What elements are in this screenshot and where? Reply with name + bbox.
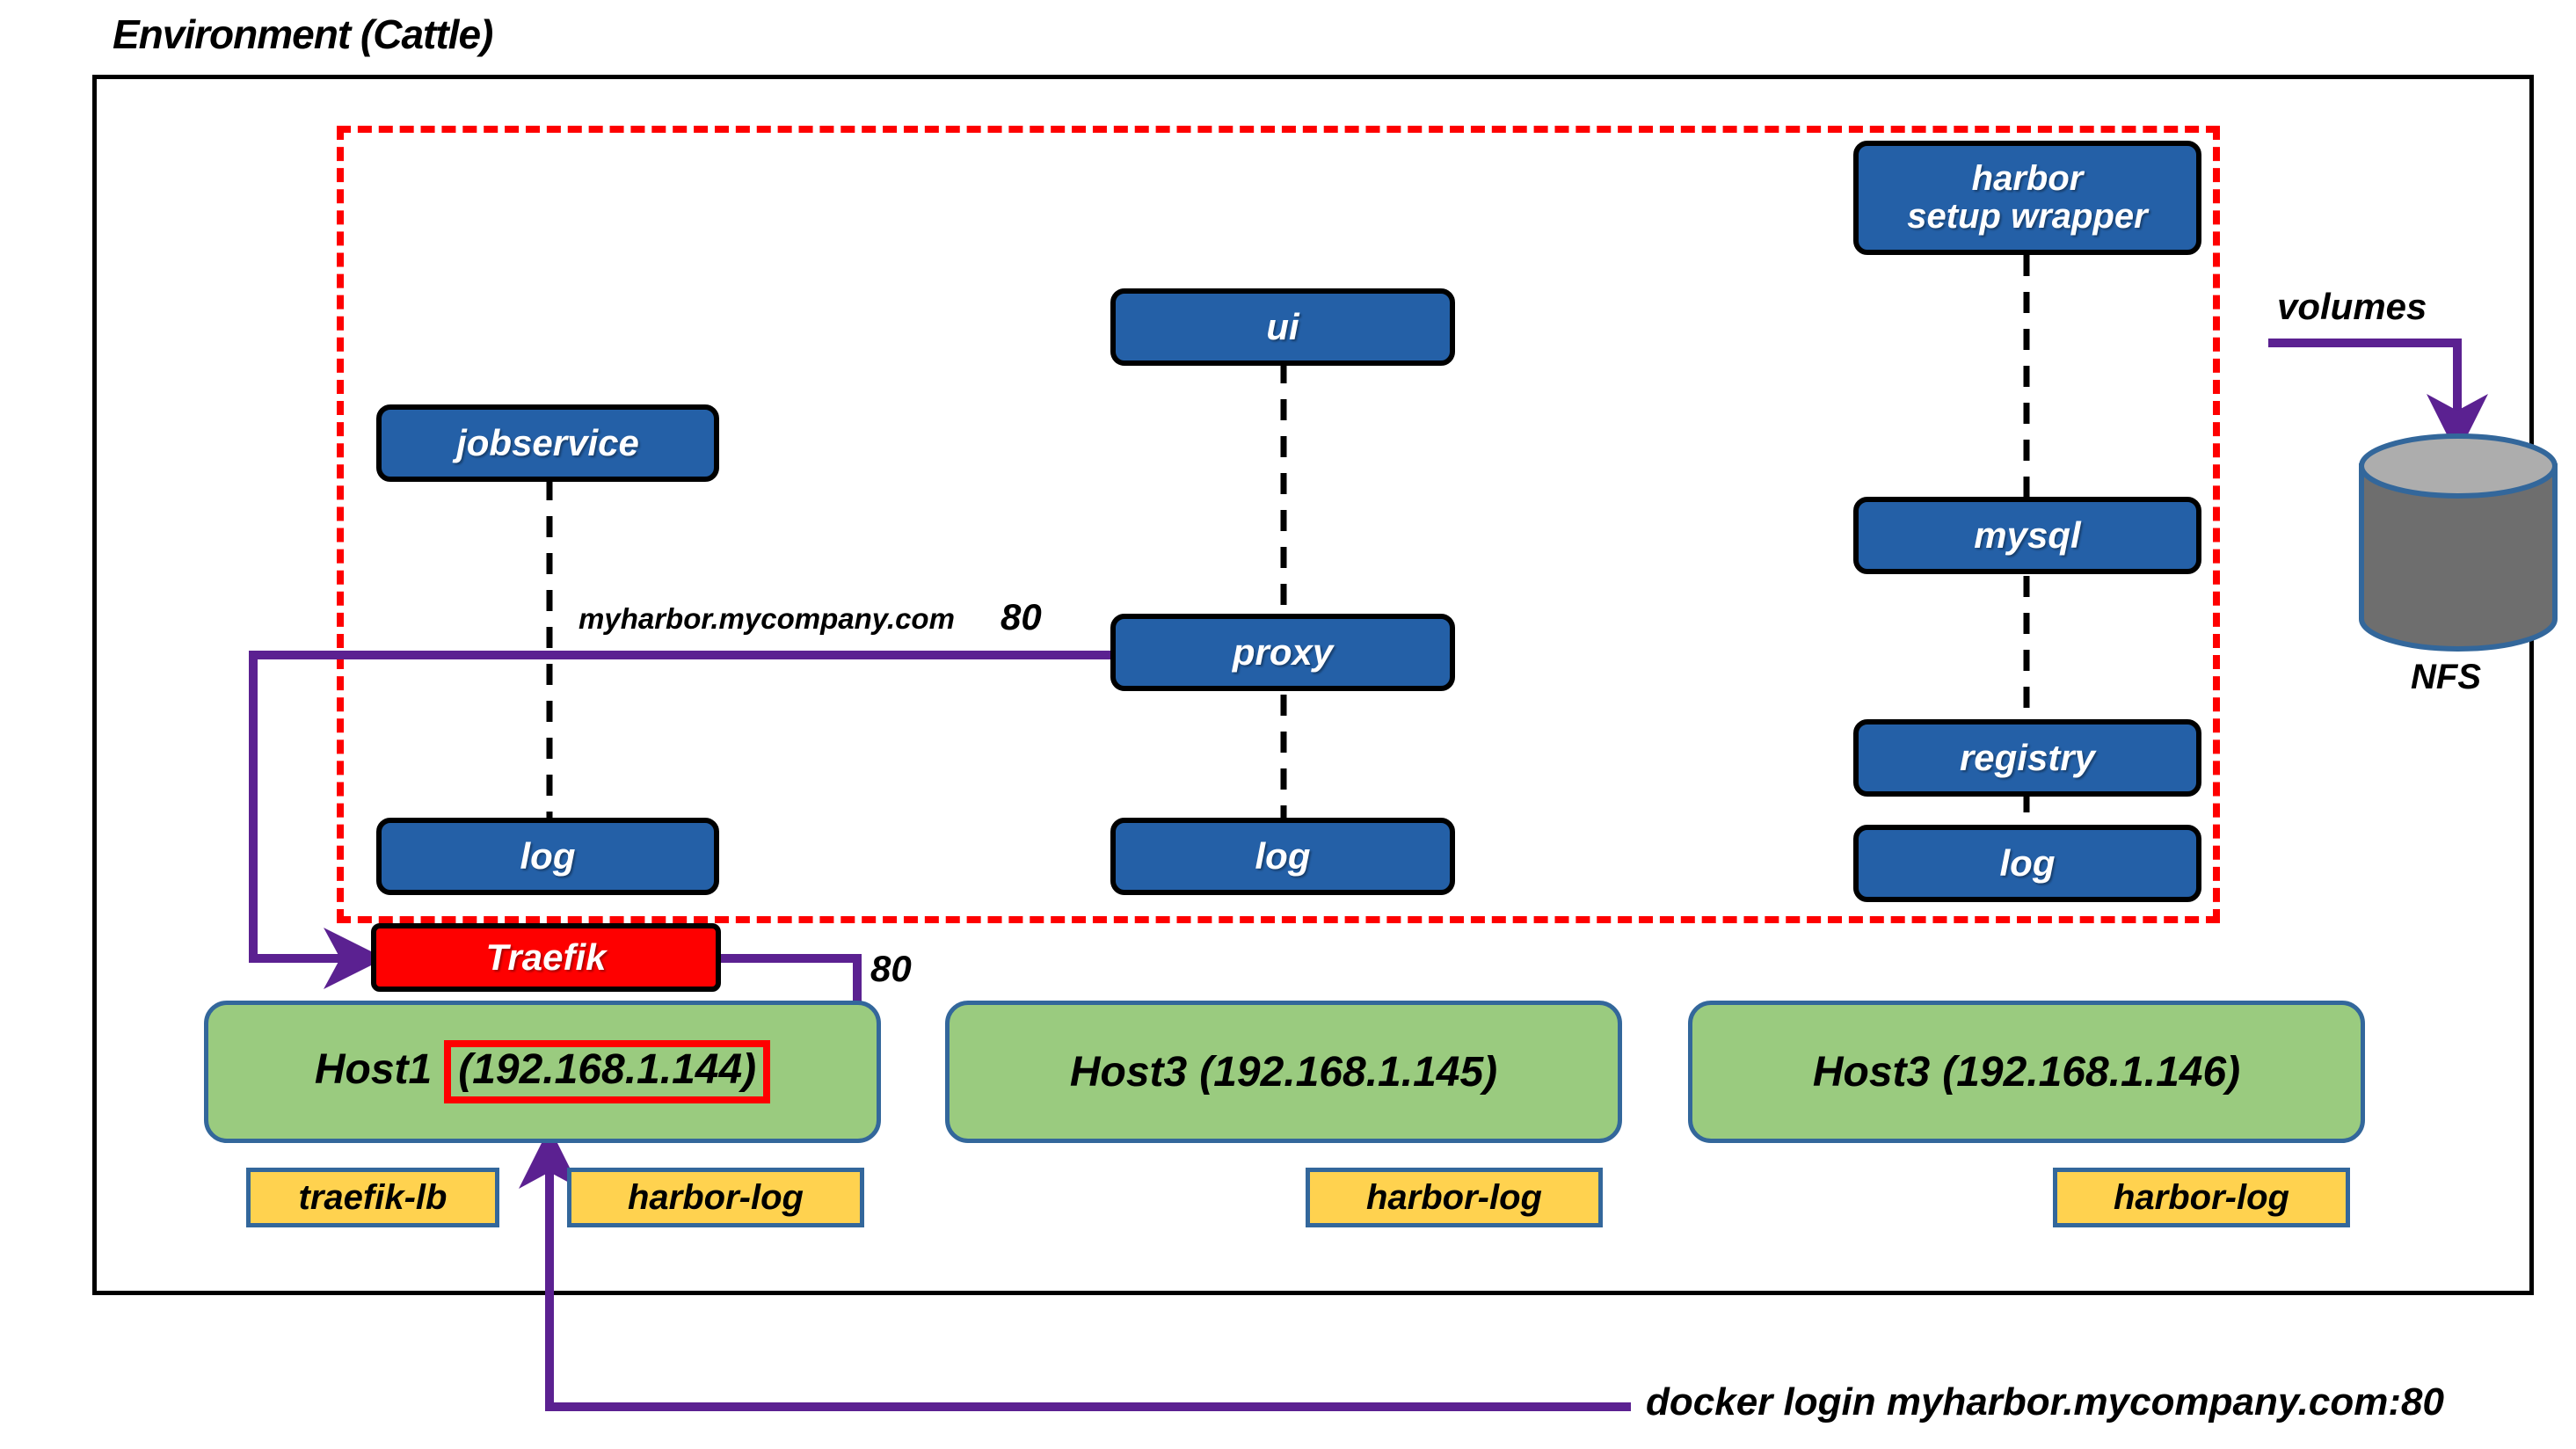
service-box-mysql[interactable]: mysql [1853, 497, 2201, 574]
service-box-harbor-setup-wrapper[interactable]: harbor setup wrapper [1853, 141, 2201, 255]
stack-tag-harbor-log-host3[interactable]: harbor-log [2053, 1168, 2350, 1227]
host-3-name: Host3 [1813, 1048, 1930, 1096]
service-box-registry[interactable]: registry [1853, 719, 2201, 797]
service-box-proxy[interactable]: proxy [1110, 614, 1455, 691]
host-1-ip: (192.168.1.144) [444, 1040, 770, 1103]
stack-tag-harbor-log-host1[interactable]: harbor-log [567, 1168, 864, 1227]
stack-tag-harbor-log-host2[interactable]: harbor-log [1306, 1168, 1603, 1227]
host-3-ip: (192.168.1.146) [1942, 1048, 2240, 1096]
service-box-registry-log[interactable]: log [1853, 825, 2201, 902]
environment-title: Environment (Cattle) [113, 11, 492, 58]
service-box-proxy-log[interactable]: log [1110, 818, 1455, 895]
host-2-ip: (192.168.1.145) [1199, 1048, 1497, 1096]
annotation-docker-login: docker login myharbor.mycompany.com:80 [1646, 1380, 2444, 1424]
host-box-1[interactable]: Host1 (192.168.1.144) [204, 1001, 881, 1143]
nfs-cylinder [2349, 433, 2567, 652]
nfs-label: NFS [2411, 658, 2481, 697]
diagram-canvas: Environment (Cattle) jobservice [0, 0, 2576, 1449]
traefik-box[interactable]: Traefik [371, 923, 721, 992]
annotation-proxy-port: 80 [1001, 596, 1042, 638]
host-box-2[interactable]: Host3 (192.168.1.145) [945, 1001, 1622, 1143]
annotation-domain: myharbor.mycompany.com [579, 602, 955, 636]
host-2-name: Host3 [1070, 1048, 1187, 1096]
service-box-jobservice-log[interactable]: log [376, 818, 719, 895]
stack-tag-traefik-lb[interactable]: traefik-lb [246, 1168, 499, 1227]
annotation-traefik-port: 80 [870, 948, 912, 990]
host-1-name: Host1 [315, 1045, 432, 1094]
service-box-jobservice[interactable]: jobservice [376, 404, 719, 482]
annotation-volumes: volumes [2277, 286, 2427, 328]
host-box-3[interactable]: Host3 (192.168.1.146) [1688, 1001, 2365, 1143]
service-box-ui[interactable]: ui [1110, 288, 1455, 366]
